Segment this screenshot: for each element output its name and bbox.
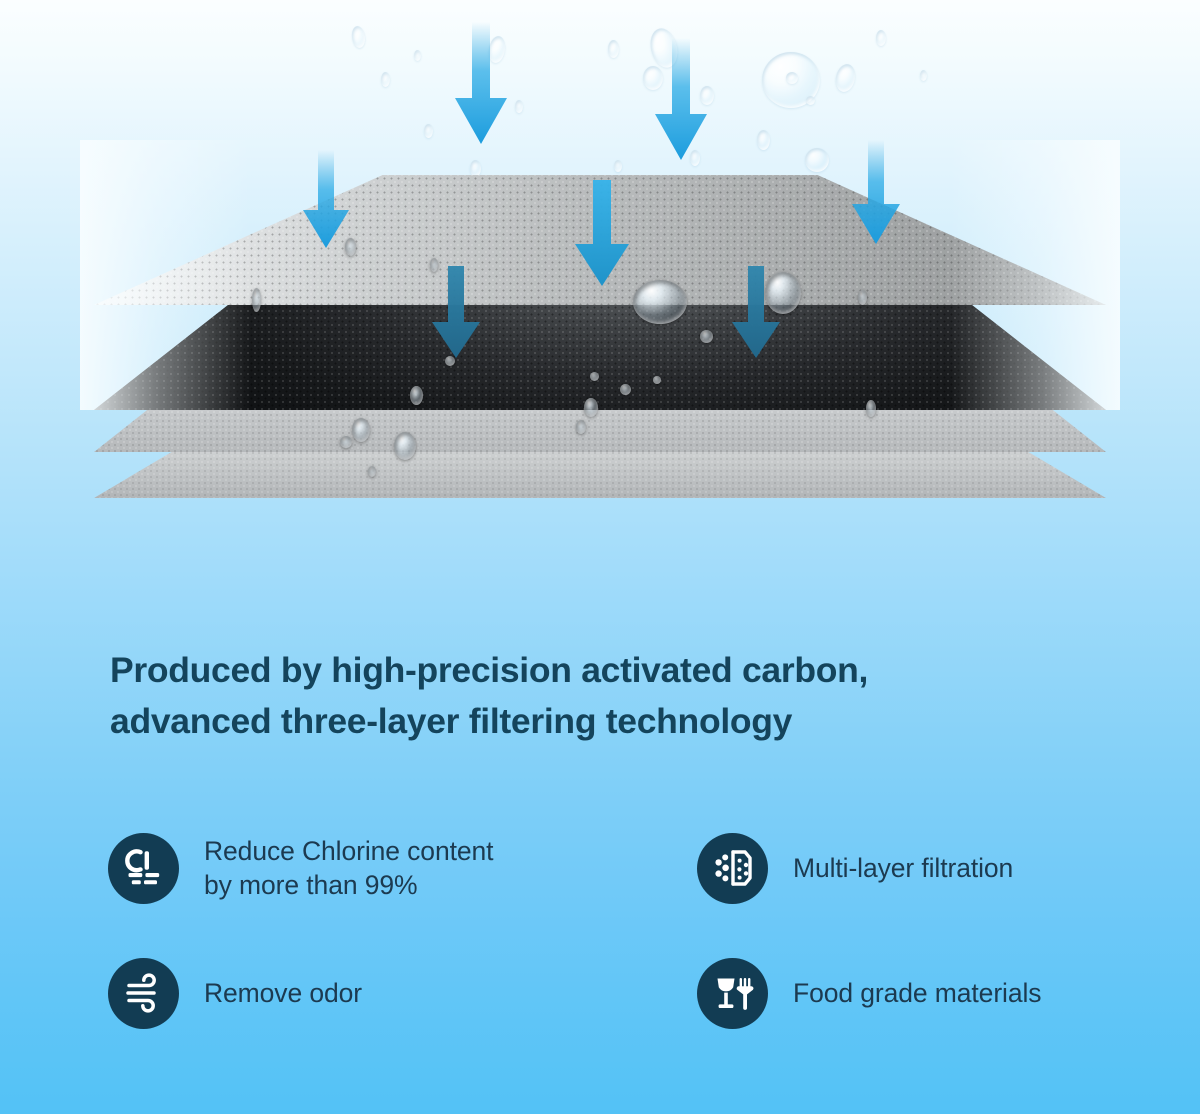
flow-arrow-outer [303,150,349,248]
flow-arrow-outer [655,38,707,160]
feature-label-line-1: Remove odor [204,976,362,1010]
feature-label: Remove odor [204,976,362,1010]
multi-layer-filter-icon [697,833,768,904]
flow-arrow-inner [732,266,780,358]
feature-label-line-1: Multi-layer filtration [793,851,1013,885]
product-illustration [0,0,1200,560]
glass-fork-icon [697,958,768,1029]
surface-droplet [576,420,586,434]
surface-droplet [858,290,867,305]
flow-arrow-outer [455,22,507,144]
feature-item-food-grade: Food grade materials [697,938,1167,1048]
feature-item-multi-layer: Multi-layer filtration [697,798,1167,938]
surface-droplet [590,372,599,381]
flow-arrow-outer [852,140,900,244]
surface-droplet [633,280,687,324]
flow-arrow-inner [432,266,480,358]
feature-label: Multi-layer filtration [793,851,1013,885]
page-title: Produced by high-precision activated car… [110,645,1110,747]
feature-label: Food grade materials [793,976,1041,1010]
feature-list: Reduce Chlorine content by more than 99% [108,798,1168,1048]
chlorine-icon [108,833,179,904]
feature-label-line-2: by more than 99% [204,868,493,902]
feature-item-chlorine: Reduce Chlorine content by more than 99% [108,798,697,938]
feature-label: Reduce Chlorine content by more than 99% [204,834,493,902]
surface-droplet [340,436,352,448]
flow-arrow-inner [575,180,629,286]
surface-droplet [394,432,416,460]
page-title-line-1: Produced by high-precision activated car… [110,645,1110,696]
surface-droplet [700,330,713,343]
feature-item-odor: Remove odor [108,938,697,1048]
surface-droplet [653,376,661,384]
surface-droplet [866,400,876,417]
feature-label-line-1: Food grade materials [793,976,1041,1010]
air-flow-icon [108,958,179,1029]
page-title-line-2: advanced three-layer filtering technolog… [110,696,1110,747]
surface-droplet [620,384,631,395]
feature-label-line-1: Reduce Chlorine content [204,834,493,868]
surface-droplet [252,288,261,312]
surface-droplet [584,398,598,417]
surface-droplet [410,386,423,405]
surface-droplet [368,466,376,477]
surface-droplet [352,418,370,442]
infographic-page: Produced by high-precision activated car… [0,0,1200,1114]
